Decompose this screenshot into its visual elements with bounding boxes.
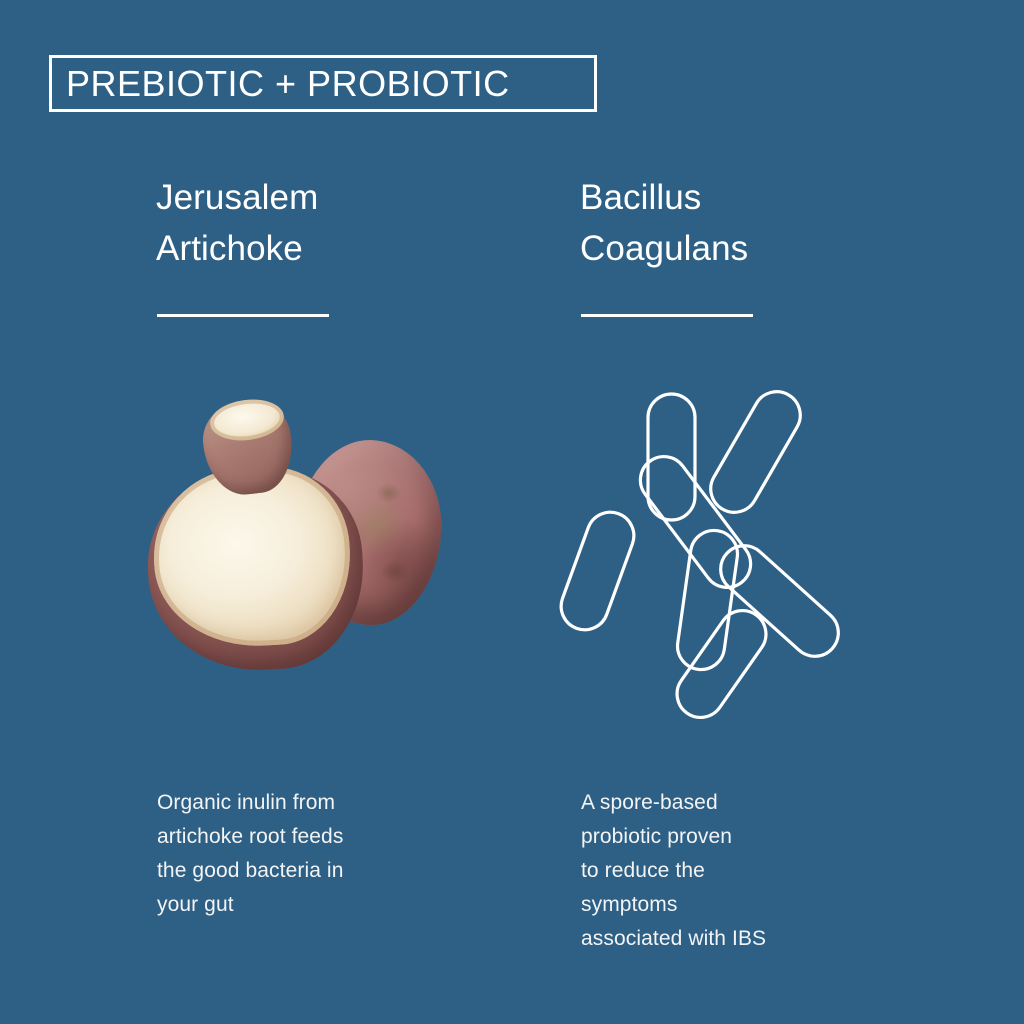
ingredient-description-probiotic: A spore-based probiotic proven to reduce…	[581, 786, 861, 956]
bacillus-rod-far-left	[555, 506, 641, 637]
ingredient-description-prebiotic: Organic inulin from artichoke root feeds…	[157, 786, 427, 922]
figure-jerusalem-artichoke	[156, 380, 496, 710]
heading-divider-left	[157, 314, 329, 317]
figure-bacillus-coagulans	[580, 380, 920, 710]
artichoke-illustration	[126, 390, 466, 690]
bacillus-rods-illustration	[580, 382, 910, 702]
ingredient-heading-bacillus-coagulans: Bacillus Coagulans	[580, 172, 748, 274]
ingredient-column-probiotic: Bacillus Coagulans A spore-based probiot…	[580, 0, 980, 1024]
heading-divider-right	[581, 314, 753, 317]
ingredient-heading-jerusalem-artichoke: Jerusalem Artichoke	[156, 172, 318, 274]
ingredient-columns: Jerusalem Artichoke Organic inulin from …	[0, 0, 1024, 1024]
promo-poster: PREBIOTIC + PROBIOTIC Jerusalem Artichok…	[0, 0, 1024, 1024]
ingredient-column-prebiotic: Jerusalem Artichoke Organic inulin from …	[156, 0, 556, 1024]
bacillus-rod-group	[555, 383, 848, 727]
bacillus-rod-upper-right	[702, 383, 809, 521]
